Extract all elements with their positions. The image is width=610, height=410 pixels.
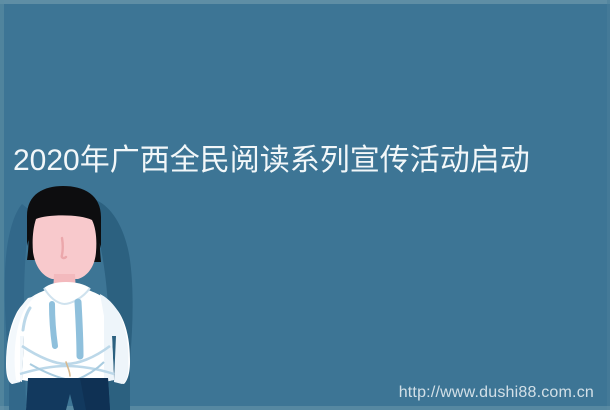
site-watermark: http://www.dushi88.com.cn	[399, 384, 594, 402]
article-banner: 2020年广西全民阅读系列宣传活动启动 http://www.dushi88.c…	[0, 0, 610, 410]
pants	[26, 378, 110, 410]
face	[33, 215, 97, 279]
page-title: 2020年广西全民阅读系列宣传活动启动	[13, 143, 597, 179]
banner-border-top	[0, 0, 610, 4]
person-illustration	[0, 186, 150, 410]
